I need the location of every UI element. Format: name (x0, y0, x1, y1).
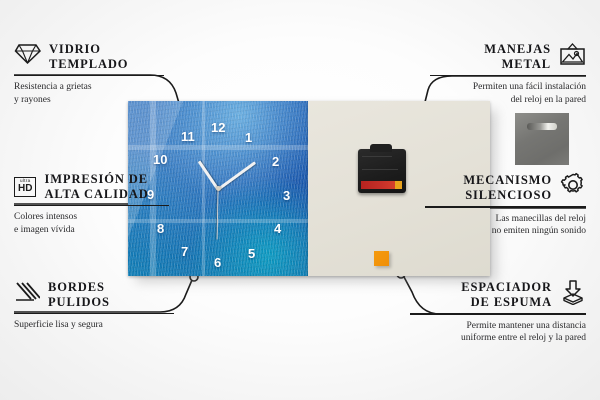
callout-title-line2: METAL (502, 57, 551, 71)
picture-frame-icon (559, 42, 586, 71)
diamond-icon (14, 43, 41, 70)
clock-numeral-12: 12 (211, 121, 225, 134)
callout-title-line2: SILENCIOSO (465, 188, 552, 202)
callout-title-line1: MECANISMO (463, 173, 552, 187)
callout-desc-line2: no emiten ningún sonido (492, 226, 586, 236)
clock-numeral-2: 2 (272, 155, 279, 168)
callout-mecanismo-silencioso: MECANISMO SILENCIOSO Las manecillas del … (425, 172, 586, 238)
callout-rule (14, 205, 169, 207)
ultra-hd-icon-main: HD (18, 184, 32, 194)
clock-numeral-11: 11 (181, 130, 195, 143)
callout-rule (430, 75, 586, 77)
callout-title-line1: MANEJAS (484, 42, 551, 56)
infographic-canvas: 12 1 2 3 4 5 6 7 8 9 10 11 (0, 0, 600, 400)
callout-desc-line1: Colores intensos (14, 212, 77, 222)
face-pattern-line (128, 145, 308, 150)
callout-rule (425, 206, 586, 208)
clock-hub (216, 186, 221, 191)
mechanism-seam (362, 169, 398, 170)
clock-minute-hand (217, 161, 256, 190)
hanger-slot (527, 123, 557, 130)
foam-spacer (374, 251, 389, 266)
clock-second-hand (217, 189, 219, 239)
quartz-mechanism (358, 149, 406, 193)
ultra-hd-icon: ultra HD (14, 177, 36, 197)
clock-numeral-4: 4 (274, 222, 281, 235)
clock-numeral-5: 5 (248, 247, 255, 260)
mechanism-tab (370, 144, 392, 152)
clock-numeral-10: 10 (153, 153, 167, 166)
callout-desc-line2: y rayones (14, 95, 51, 105)
callout-desc-line1: Permite mantener una distancia (467, 321, 587, 331)
callout-title-line2: PULIDOS (48, 295, 110, 309)
callout-desc-line2: del reloj en la pared (511, 95, 586, 105)
mechanism-seam (362, 156, 392, 157)
polished-edges-icon (14, 281, 40, 308)
callout-impresion-alta-calidad: ultra HD IMPRESIÓN DE ALTA CALIDAD Color… (14, 172, 169, 237)
clock-numeral-1: 1 (245, 131, 252, 144)
callout-title-line2: DE ESPUMA (471, 295, 552, 309)
callout-title-line1: IMPRESIÓN DE (44, 172, 148, 186)
callout-desc-line2: uniforme entre el reloj y la pared (461, 333, 586, 343)
callout-bordes-pulidos: BORDES PULIDOS Superficie lisa y segura (14, 280, 174, 332)
clock-numeral-3: 3 (283, 189, 290, 202)
callout-desc-line2: e imagen vívida (14, 225, 75, 235)
callout-desc-line1: Superficie lisa y segura (14, 320, 103, 330)
callout-manejas-metal: MANEJAS METAL Permiten una fácil instala… (430, 42, 586, 107)
callout-title-line2: TEMPLADO (49, 57, 128, 71)
callout-desc-line1: Resistencia a grietas (14, 82, 92, 92)
callout-rule (410, 313, 586, 315)
callout-desc-line1: Las manecillas del reloj (496, 214, 586, 224)
callout-espaciador-espuma: ESPACIADOR DE ESPUMA Permite mantener un… (410, 280, 586, 345)
callout-title-line1: ESPACIADOR (461, 280, 552, 294)
face-pattern-line (202, 101, 205, 276)
clock-numeral-6: 6 (214, 256, 221, 269)
mechanism-chip (395, 181, 402, 189)
mechanism-label-band (361, 181, 399, 189)
gear-icon (560, 172, 586, 203)
callout-rule (14, 313, 174, 315)
hanger-plate (515, 113, 569, 165)
callout-desc-line1: Permiten una fácil instalación (473, 82, 586, 92)
callout-title-line1: VIDRIO (49, 42, 101, 56)
callout-title-line1: BORDES (48, 280, 105, 294)
callout-title-line2: ALTA CALIDAD (44, 187, 148, 201)
clock-numeral-7: 7 (181, 245, 188, 258)
callout-rule (14, 75, 164, 77)
foam-spacer-icon (560, 280, 586, 310)
callout-vidrio-templado: VIDRIO TEMPLADO Resistencia a grietas y … (14, 42, 164, 107)
